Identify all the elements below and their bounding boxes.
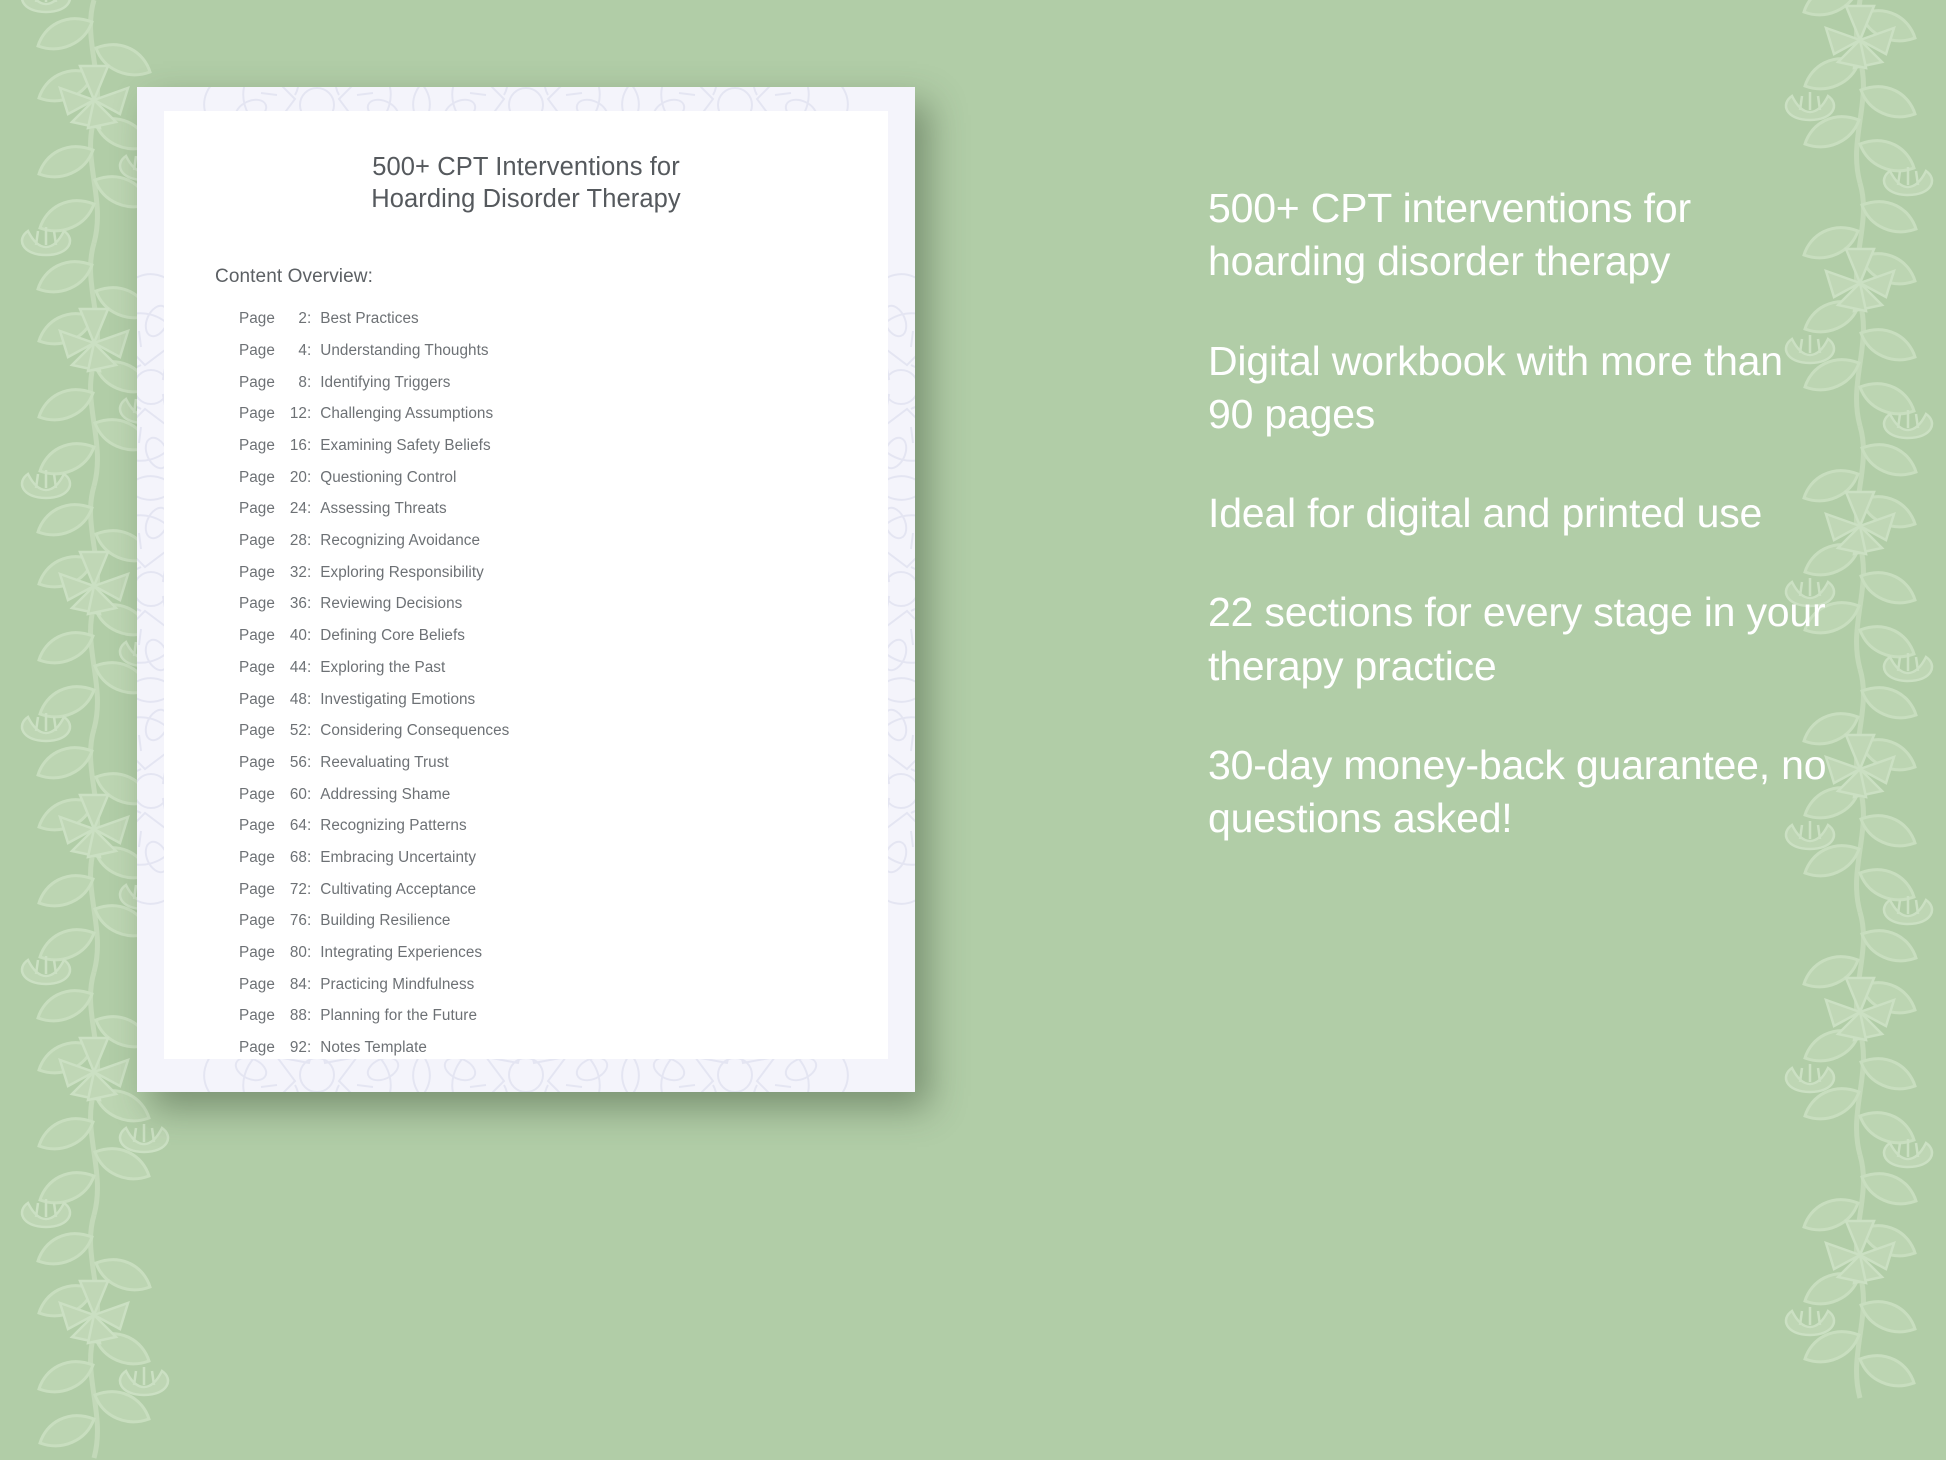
- toc-colon: :: [307, 945, 311, 960]
- toc-page-number: 60: [280, 787, 307, 802]
- toc-page-number: 76: [280, 913, 307, 928]
- toc-page-word: Page: [239, 596, 275, 611]
- toc-entry-title: Recognizing Avoidance: [320, 533, 480, 548]
- toc-entry-title: Building Resilience: [320, 913, 450, 928]
- toc-entry: Page92:Notes Template: [239, 1040, 888, 1059]
- toc-page-number: 88: [280, 1008, 307, 1023]
- toc-entry-title: Understanding Thoughts: [320, 343, 488, 358]
- toc-page-word: Page: [239, 438, 275, 453]
- toc-page-number: 68: [280, 850, 307, 865]
- page-title-line-1: 500+ CPT Interventions for: [164, 151, 888, 183]
- toc-page-word: Page: [239, 343, 275, 358]
- toc-entry: Page60:Addressing Shame: [239, 787, 888, 819]
- toc-colon: :: [307, 596, 311, 611]
- toc-page-number: 40: [280, 628, 307, 643]
- toc-entry: Page64:Recognizing Patterns: [239, 818, 888, 850]
- toc-entry-title: Identifying Triggers: [320, 375, 450, 390]
- toc-entry-title: Notes Template: [320, 1040, 427, 1055]
- toc-page-number: 20: [280, 470, 307, 485]
- toc-colon: :: [307, 343, 311, 358]
- toc-page-number: 72: [280, 882, 307, 897]
- toc-colon: :: [307, 882, 311, 897]
- toc-page-number: 36: [280, 596, 307, 611]
- toc-entry: Page20:Questioning Control: [239, 470, 888, 502]
- toc-colon: :: [307, 565, 311, 580]
- toc-entry-title: Challenging Assumptions: [320, 406, 493, 421]
- toc-page-word: Page: [239, 818, 275, 833]
- toc-entry: Page84:Practicing Mindfulness: [239, 977, 888, 1009]
- toc-colon: :: [307, 913, 311, 928]
- toc-entry-title: Addressing Shame: [320, 787, 450, 802]
- product-mockup-card: 500+ CPT Interventions for Hoarding Diso…: [137, 87, 915, 1092]
- toc-entry-title: Assessing Threats: [320, 501, 446, 516]
- toc-colon: :: [307, 850, 311, 865]
- toc-colon: :: [307, 470, 311, 485]
- toc-colon: :: [307, 977, 311, 992]
- toc-entry-title: Cultivating Acceptance: [320, 882, 476, 897]
- toc-colon: :: [307, 787, 311, 802]
- toc-colon: :: [307, 375, 311, 390]
- toc-entry-title: Questioning Control: [320, 470, 456, 485]
- toc-entry: Page44:Exploring the Past: [239, 660, 888, 692]
- content-overview-label: Content Overview:: [164, 215, 888, 288]
- document-page: 500+ CPT Interventions for Hoarding Diso…: [164, 111, 888, 1059]
- toc-page-word: Page: [239, 533, 275, 548]
- toc-entry: Page4:Understanding Thoughts: [239, 343, 888, 375]
- toc-entry: Page32:Exploring Responsibility: [239, 565, 888, 597]
- toc-page-word: Page: [239, 375, 275, 390]
- toc-entry: Page40:Defining Core Beliefs: [239, 628, 888, 660]
- marketing-line: Digital workbook with more than 90 pages: [1208, 335, 1828, 442]
- toc-page-number: 24: [280, 501, 307, 516]
- toc-page-number: 92: [280, 1040, 307, 1055]
- toc-colon: :: [307, 501, 311, 516]
- toc-colon: :: [307, 628, 311, 643]
- toc-entry: Page88:Planning for the Future: [239, 1008, 888, 1040]
- toc-page-word: Page: [239, 660, 275, 675]
- toc-page-word: Page: [239, 565, 275, 580]
- toc-colon: :: [307, 406, 311, 421]
- toc-page-word: Page: [239, 628, 275, 643]
- toc-colon: :: [307, 660, 311, 675]
- toc-page-word: Page: [239, 1040, 275, 1055]
- toc-page-word: Page: [239, 311, 275, 326]
- toc-page-word: Page: [239, 1008, 275, 1023]
- toc-entry-title: Investigating Emotions: [320, 692, 475, 707]
- toc-page-number: 8: [280, 375, 307, 390]
- toc-entry: Page2:Best Practices: [239, 311, 888, 343]
- toc-entry: Page76:Building Resilience: [239, 913, 888, 945]
- toc-entry: Page48:Investigating Emotions: [239, 692, 888, 724]
- toc-entry: Page52:Considering Consequences: [239, 723, 888, 755]
- toc-entry: Page12:Challenging Assumptions: [239, 406, 888, 438]
- toc-page-number: 48: [280, 692, 307, 707]
- toc-colon: :: [307, 723, 311, 738]
- toc-page-word: Page: [239, 755, 275, 770]
- toc-entry: Page56:Reevaluating Trust: [239, 755, 888, 787]
- toc-entry-title: Planning for the Future: [320, 1008, 477, 1023]
- toc-colon: :: [307, 1040, 311, 1055]
- toc-page-number: 32: [280, 565, 307, 580]
- toc-entry: Page72:Cultivating Acceptance: [239, 882, 888, 914]
- page-title: 500+ CPT Interventions for Hoarding Diso…: [164, 111, 888, 215]
- toc-entry: Page68:Embracing Uncertainty: [239, 850, 888, 882]
- toc-page-number: 28: [280, 533, 307, 548]
- toc-page-word: Page: [239, 787, 275, 802]
- toc-entry-title: Defining Core Beliefs: [320, 628, 465, 643]
- toc-colon: :: [307, 818, 311, 833]
- table-of-contents-list: Page2:Best PracticesPage4:Understanding …: [164, 288, 888, 1059]
- toc-colon: :: [307, 311, 311, 326]
- marketing-line: Ideal for digital and printed use: [1208, 487, 1828, 540]
- toc-page-number: 44: [280, 660, 307, 675]
- marketing-line: 500+ CPT interventions for hoarding diso…: [1208, 182, 1828, 289]
- page-title-line-2: Hoarding Disorder Therapy: [164, 183, 888, 215]
- toc-page-word: Page: [239, 501, 275, 516]
- toc-page-number: 84: [280, 977, 307, 992]
- toc-page-number: 16: [280, 438, 307, 453]
- toc-entry-title: Embracing Uncertainty: [320, 850, 476, 865]
- toc-colon: :: [307, 1008, 311, 1023]
- toc-page-number: 4: [280, 343, 307, 358]
- toc-page-number: 12: [280, 406, 307, 421]
- toc-colon: :: [307, 692, 311, 707]
- toc-entry: Page16:Examining Safety Beliefs: [239, 438, 888, 470]
- toc-page-word: Page: [239, 692, 275, 707]
- toc-entry-title: Reviewing Decisions: [320, 596, 462, 611]
- toc-colon: :: [307, 755, 311, 770]
- toc-entry-title: Exploring the Past: [320, 660, 445, 675]
- toc-entry-title: Examining Safety Beliefs: [320, 438, 490, 453]
- toc-entry: Page80:Integrating Experiences: [239, 945, 888, 977]
- toc-entry-title: Integrating Experiences: [320, 945, 482, 960]
- toc-colon: :: [307, 533, 311, 548]
- toc-page-number: 56: [280, 755, 307, 770]
- toc-entry-title: Best Practices: [320, 311, 418, 326]
- toc-colon: :: [307, 438, 311, 453]
- toc-entry: Page24:Assessing Threats: [239, 501, 888, 533]
- toc-page-word: Page: [239, 882, 275, 897]
- toc-entry-title: Exploring Responsibility: [320, 565, 484, 580]
- toc-page-word: Page: [239, 723, 275, 738]
- marketing-line: 30-day money-back guarantee, no question…: [1208, 739, 1828, 846]
- toc-entry: Page8:Identifying Triggers: [239, 375, 888, 407]
- marketing-copy-block: 500+ CPT interventions for hoarding diso…: [1208, 182, 1828, 846]
- toc-page-number: 64: [280, 818, 307, 833]
- toc-entry: Page28:Recognizing Avoidance: [239, 533, 888, 565]
- toc-entry-title: Reevaluating Trust: [320, 755, 448, 770]
- toc-entry-title: Practicing Mindfulness: [320, 977, 474, 992]
- toc-page-word: Page: [239, 977, 275, 992]
- toc-page-word: Page: [239, 913, 275, 928]
- toc-page-word: Page: [239, 406, 275, 421]
- toc-entry-title: Recognizing Patterns: [320, 818, 466, 833]
- toc-page-word: Page: [239, 470, 275, 485]
- toc-page-number: 80: [280, 945, 307, 960]
- toc-entry: Page36:Reviewing Decisions: [239, 596, 888, 628]
- toc-page-word: Page: [239, 850, 275, 865]
- toc-entry-title: Considering Consequences: [320, 723, 509, 738]
- toc-page-number: 52: [280, 723, 307, 738]
- toc-page-number: 2: [280, 311, 307, 326]
- toc-page-word: Page: [239, 945, 275, 960]
- marketing-line: 22 sections for every stage in your ther…: [1208, 586, 1828, 693]
